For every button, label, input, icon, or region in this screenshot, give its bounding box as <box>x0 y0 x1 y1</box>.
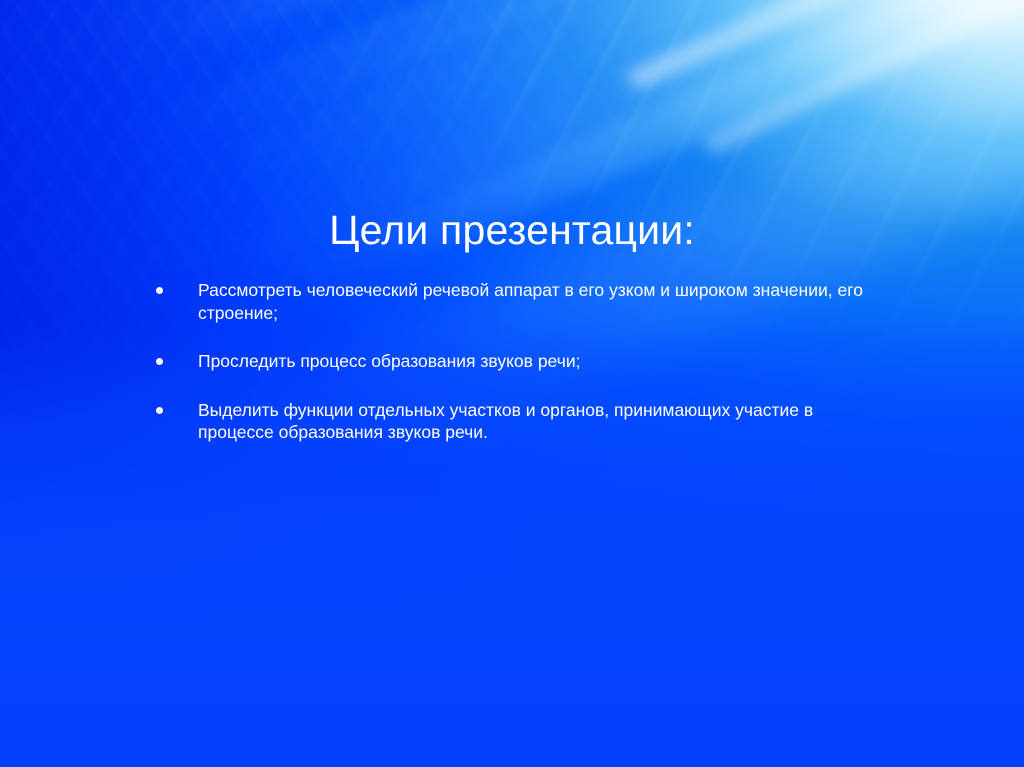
list-item-text: Выделить функции отдельных участков и ор… <box>198 399 888 444</box>
presentation-slide: Цели презентации: Рассмотреть человеческ… <box>0 0 1024 767</box>
list-item: Выделить функции отдельных участков и ор… <box>148 399 888 444</box>
bullet-dot-icon <box>156 407 163 414</box>
slide-title: Цели презентации: <box>0 208 1024 252</box>
bullet-dot-icon <box>156 287 163 294</box>
bullet-dot-icon <box>156 358 163 365</box>
objectives-bullet-list: Рассмотреть человеческий речевой аппарат… <box>148 279 888 444</box>
slide-content: Цели презентации: Рассмотреть человеческ… <box>0 0 1024 767</box>
list-item-text: Проследить процесс образования звуков ре… <box>198 350 888 373</box>
list-item-text: Рассмотреть человеческий речевой аппарат… <box>198 279 888 324</box>
list-item: Проследить процесс образования звуков ре… <box>148 350 888 373</box>
list-item: Рассмотреть человеческий речевой аппарат… <box>148 279 888 324</box>
